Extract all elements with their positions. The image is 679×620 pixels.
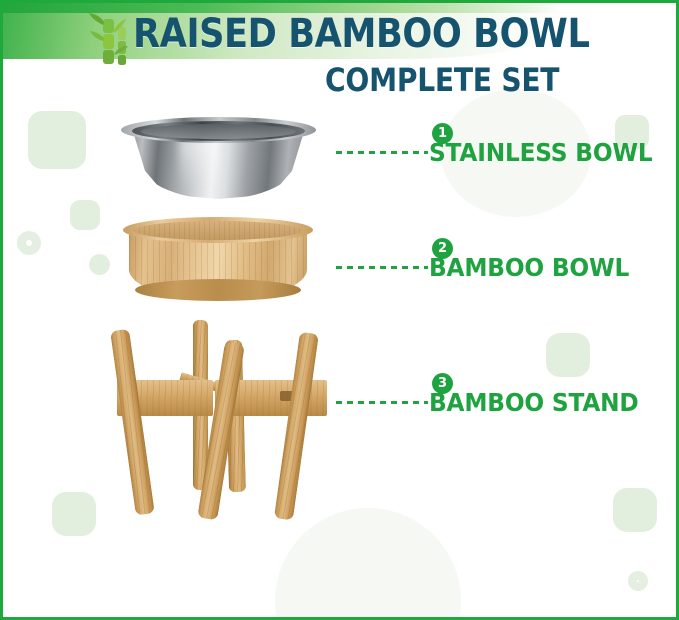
decor-ring: [628, 571, 648, 591]
callout-label: BAMBOO STAND: [429, 388, 639, 417]
bamboo-stand-image: [75, 318, 335, 533]
title-block: RAISED BAMBOO BOWL COMPLETE SET: [3, 3, 676, 111]
bowl-interior-floor: [141, 124, 296, 139]
bamboo-bowl-base: [135, 279, 301, 301]
decor-circle: [89, 254, 110, 275]
decor-square: [70, 200, 100, 230]
callout-label: STAINLESS BOWL: [429, 138, 652, 167]
callout-dashed-line: [336, 401, 428, 404]
stainless-steel-bowl-image: [121, 115, 316, 203]
bowl-highlight: [179, 139, 219, 189]
product-infographic-poster: RAISED BAMBOO BOWL COMPLETE SET: [0, 0, 679, 620]
stand-leg-back-right: [274, 332, 319, 521]
page-title-line1: RAISED BAMBOO BOWL: [133, 11, 589, 57]
bamboo-bowl-interior: [134, 221, 302, 240]
callout-dashed-line: [336, 266, 428, 269]
poster-header: RAISED BAMBOO BOWL COMPLETE SET: [3, 3, 676, 111]
stand-leg-front-left: [110, 329, 155, 516]
decor-square: [28, 111, 86, 169]
page-title-line2: COMPLETE SET: [325, 61, 559, 99]
decor-ring: [17, 231, 41, 255]
bamboo-bowl-image: [123, 213, 313, 305]
decor-square: [613, 488, 657, 532]
callout-dashed-line: [336, 151, 428, 154]
decor-square: [546, 333, 590, 377]
callout-label: BAMBOO BOWL: [429, 253, 629, 282]
